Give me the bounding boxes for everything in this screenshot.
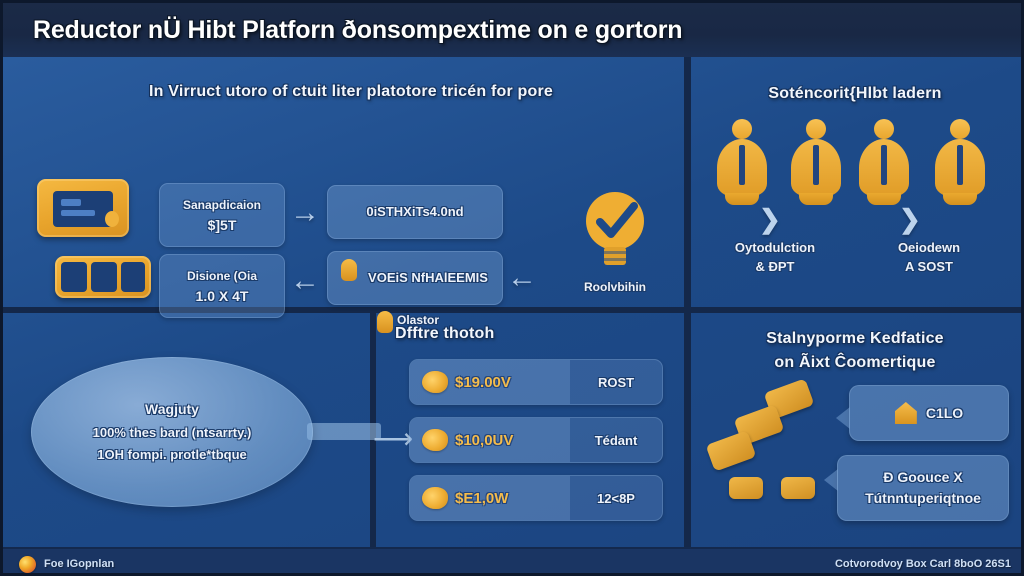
panel-divider-vertical-right bbox=[684, 57, 691, 547]
panel-bottom-middle: Dfftre thotoh ⟶ $19.00V ROST $10,0UV Téd… bbox=[377, 313, 683, 541]
panel-top-right: Soténcorit{Hlbt ladern ❯ ❯ Oytodulction … bbox=[691, 61, 1019, 307]
brand-logo-icon bbox=[19, 556, 36, 573]
flow-box-b-line2: 1.0 X 4T bbox=[160, 287, 284, 306]
callout-bubble-1[interactable]: C1LO bbox=[849, 385, 1009, 441]
coin-icon bbox=[422, 429, 448, 451]
animal-icon-4 bbox=[729, 477, 763, 499]
top-right-caption-1: Oytodulction & ÐPT bbox=[705, 239, 845, 277]
flow-box-a-line2: $]5T bbox=[160, 216, 284, 235]
list-row-left: $19.00V bbox=[410, 360, 570, 404]
chevron-down-icon-2: ❯ bbox=[899, 206, 921, 232]
ellipse-line-3: 1OH fompi. protle*tbque bbox=[97, 444, 247, 466]
lightbulb-group: Roolvbihin bbox=[567, 189, 663, 294]
body-area: In Virruct utoro of ctuit liter platotor… bbox=[3, 57, 1024, 547]
flow-box-b[interactable]: Disione (Oia 1.0 X 4T bbox=[159, 254, 285, 318]
flow-box-c-label: 0iSTHXiTs4.0nd bbox=[328, 203, 502, 221]
flow-box-a[interactable]: Sanapdicaion $]5T bbox=[159, 183, 285, 247]
banknotes-card-icon bbox=[55, 256, 151, 298]
list-row-amount: $10,0UV bbox=[455, 432, 513, 449]
coin-icon bbox=[422, 371, 448, 393]
footer-left-text: Foe IGopnlan bbox=[44, 558, 114, 570]
list-row-label: Tédant bbox=[570, 433, 662, 448]
page-title: Reductor nÜ Hibt Platforn ðonsompextime … bbox=[33, 16, 682, 45]
obstacle-marker-icon bbox=[341, 259, 357, 281]
callout-bubble-2-line1: Ð Goouce X bbox=[865, 467, 981, 488]
panel-bottom-right-title: Stalnyporme Kedfatice on Ãixt Ĉoomertiqu… bbox=[701, 327, 1009, 375]
animal-icon-3 bbox=[706, 430, 757, 471]
list-row-left: $10,0UV bbox=[410, 418, 570, 462]
flow-box-a-line1: Sanapdicaion bbox=[160, 197, 284, 213]
person-icon-1 bbox=[715, 119, 769, 205]
flow-box-c[interactable]: 0iSTHXiTs4.0nd bbox=[327, 185, 503, 239]
list-row[interactable]: $10,0UV Tédant bbox=[409, 417, 663, 463]
person-icon-3 bbox=[857, 119, 911, 205]
list-row[interactable]: $19.00V ROST bbox=[409, 359, 663, 405]
lightbulb-label: Roolvbihin bbox=[567, 280, 663, 294]
list-row-label: ROST bbox=[570, 375, 662, 390]
ellipse-connector bbox=[307, 423, 381, 440]
top-right-caption-2: Oeiodewn A SOST bbox=[859, 239, 999, 277]
panel-top-left-title: In Virruct utoro of ctuit liter platotor… bbox=[71, 83, 631, 101]
summary-ellipse[interactable]: Wagjuty 100% thes bard (ntsarrty.) 1OH f… bbox=[31, 357, 313, 507]
top-right-caption-1-line1: Oytodulction bbox=[705, 239, 845, 258]
list-row-left: $E1,0W bbox=[410, 476, 570, 520]
wallet-card-icon bbox=[37, 179, 129, 237]
list-row-amount: $19.00V bbox=[455, 374, 511, 391]
panel-bottom-right-title-line2: on Ãixt Ĉoomertique bbox=[701, 351, 1009, 375]
panel-bottom-middle-title: Dfftre thotoh bbox=[395, 325, 665, 343]
ellipse-line-2: 100% thes bard (ntsarrty.) bbox=[93, 422, 252, 444]
person-icon-2 bbox=[789, 119, 843, 205]
header-band: Reductor nÜ Hibt Platforn ðonsompextime … bbox=[3, 3, 1024, 59]
panel-top-left: In Virruct utoro of ctuit liter platotor… bbox=[11, 61, 683, 307]
infographic-canvas: Reductor nÜ Hibt Platforn ðonsompextime … bbox=[0, 0, 1024, 576]
panel-bottom-right: Stalnyporme Kedfatice on Ãixt Ĉoomertiqu… bbox=[691, 313, 1019, 541]
panel-bottom-right-title-line1: Stalnyporme Kedfatice bbox=[701, 327, 1009, 351]
arrow-left-icon-2: ← bbox=[507, 263, 537, 293]
top-right-caption-2-line1: Oeiodewn bbox=[859, 239, 999, 258]
top-right-caption-1-line2: & ÐPT bbox=[705, 258, 845, 277]
list-row[interactable]: $E1,0W 12<8P bbox=[409, 475, 663, 521]
person-icon-4 bbox=[933, 119, 987, 205]
footer-right-text: Cotvorodvoy Box Carl 8boO 26S1 bbox=[835, 558, 1011, 570]
callout-bubble-2-content: Ð Goouce X Tútnntuperiqtnoe bbox=[865, 467, 981, 509]
callout-bubble-2[interactable]: Ð Goouce X Tútnntuperiqtnoe bbox=[837, 455, 1009, 521]
list-row-label: 12<8P bbox=[570, 491, 662, 506]
flow-box-b-line1: Disione (Oia bbox=[160, 268, 284, 284]
chevron-down-icon-1: ❯ bbox=[759, 206, 781, 232]
callout-bubble-1-text: C1LO bbox=[926, 403, 963, 424]
callout-bubble-1-content: C1LO bbox=[895, 402, 963, 424]
panel-top-right-title: Soténcorit{Hlbt ladern bbox=[699, 85, 1011, 103]
house-icon bbox=[895, 402, 917, 424]
animal-icon-5 bbox=[781, 477, 815, 499]
footer-bar: Foe IGopnlan Cotvorodvoy Box Carl 8boO 2… bbox=[3, 547, 1024, 576]
lightbulb-check-icon bbox=[578, 189, 652, 269]
arrow-left-icon: ← bbox=[290, 266, 320, 296]
panel-bottom-left: Wagjuty 100% thes bard (ntsarrty.) 1OH f… bbox=[11, 313, 369, 541]
list-row-amount: $E1,0W bbox=[455, 490, 508, 507]
arrow-right-icon: → bbox=[290, 198, 320, 228]
footer-left: Foe IGopnlan bbox=[19, 556, 114, 573]
arrow-right-into-list-icon: ⟶ bbox=[373, 425, 413, 453]
top-right-caption-2-line2: A SOST bbox=[859, 258, 999, 277]
ellipse-line-1: Wagjuty bbox=[145, 398, 199, 422]
callout-bubble-2-line2: Tútnntuperiqtnoe bbox=[865, 488, 981, 509]
coin-icon bbox=[422, 487, 448, 509]
